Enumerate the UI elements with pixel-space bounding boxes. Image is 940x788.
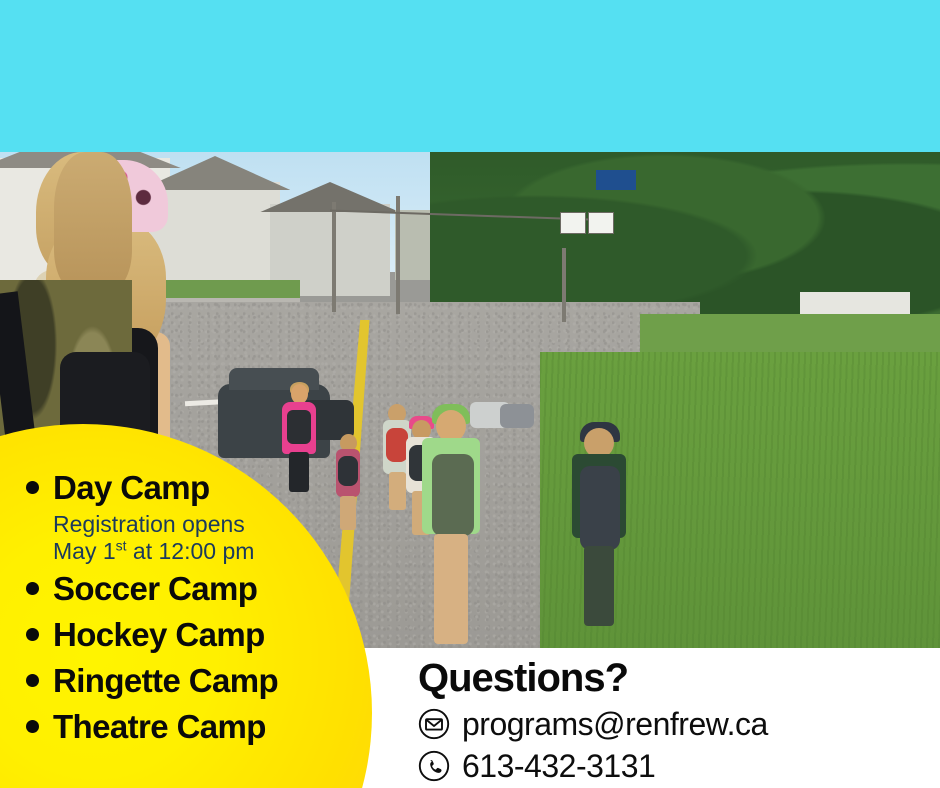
photo-child-backpack <box>432 454 474 536</box>
contact-phone-text: 613-432-3131 <box>462 748 655 784</box>
list-item-soccer-camp[interactable]: Soccer Camp <box>0 567 372 611</box>
camp-label: Soccer Camp <box>53 567 257 611</box>
contact-email-text: programs@renfrew.ca <box>462 706 768 742</box>
envelope-icon <box>418 708 450 740</box>
camp-registration-note: Registration opens May 1st at 12:00 pm <box>53 511 254 565</box>
camp-label: Hockey Camp <box>53 613 265 657</box>
photo-blue-street-sign <box>596 170 636 190</box>
list-item-theatre-camp[interactable]: Theatre Camp <box>0 705 372 749</box>
bullet-icon <box>26 481 39 494</box>
registration-date-prefix: May 1 <box>53 538 116 564</box>
bullet-icon <box>26 720 39 733</box>
photo-utility-pole <box>332 202 336 312</box>
photo-child-legs <box>584 546 614 626</box>
registration-time-suffix: at 12:00 pm <box>127 538 255 564</box>
list-item-day-camp[interactable]: Day Camp Registration opens May 1st at 1… <box>0 466 372 565</box>
registration-line-1: Registration opens <box>53 511 245 537</box>
bullet-icon <box>26 674 39 687</box>
camps-list: Day Camp Registration opens May 1st at 1… <box>0 466 372 751</box>
header-banner <box>0 0 940 152</box>
registration-date-ordinal: st <box>116 537 127 553</box>
photo-child-hair <box>54 152 132 292</box>
contact-phone-row[interactable]: 613-432-3131 <box>418 748 655 784</box>
photo-car <box>500 404 534 428</box>
camp-label: Ringette Camp <box>53 659 278 703</box>
photo-house-2 <box>150 182 280 290</box>
summer-camps-poster: Renfrew SUMMER CAMPS <box>0 0 940 788</box>
camp-label: Day Camp <box>53 466 254 510</box>
contact-heading: Questions? <box>418 655 628 701</box>
photo-child-backpack <box>580 466 620 550</box>
bullet-icon <box>26 628 39 641</box>
bullet-icon <box>26 582 39 595</box>
photo-adult-head <box>291 384 308 404</box>
list-item-ringette-camp[interactable]: Ringette Camp <box>0 659 372 703</box>
photo-traffic-sign <box>588 212 614 234</box>
photo-traffic-sign <box>560 212 586 234</box>
phone-icon <box>418 750 450 782</box>
photo-child-green-shirt <box>418 410 484 648</box>
photo-utility-pole <box>562 248 566 322</box>
list-item-hockey-camp[interactable]: Hockey Camp <box>0 613 372 657</box>
photo-child-navy-cap <box>570 428 630 628</box>
contact-email-row[interactable]: programs@renfrew.ca <box>418 706 768 742</box>
photo-adult-backpack <box>287 410 311 444</box>
photo-child-legs <box>434 534 468 644</box>
camp-label: Theatre Camp <box>53 705 266 749</box>
